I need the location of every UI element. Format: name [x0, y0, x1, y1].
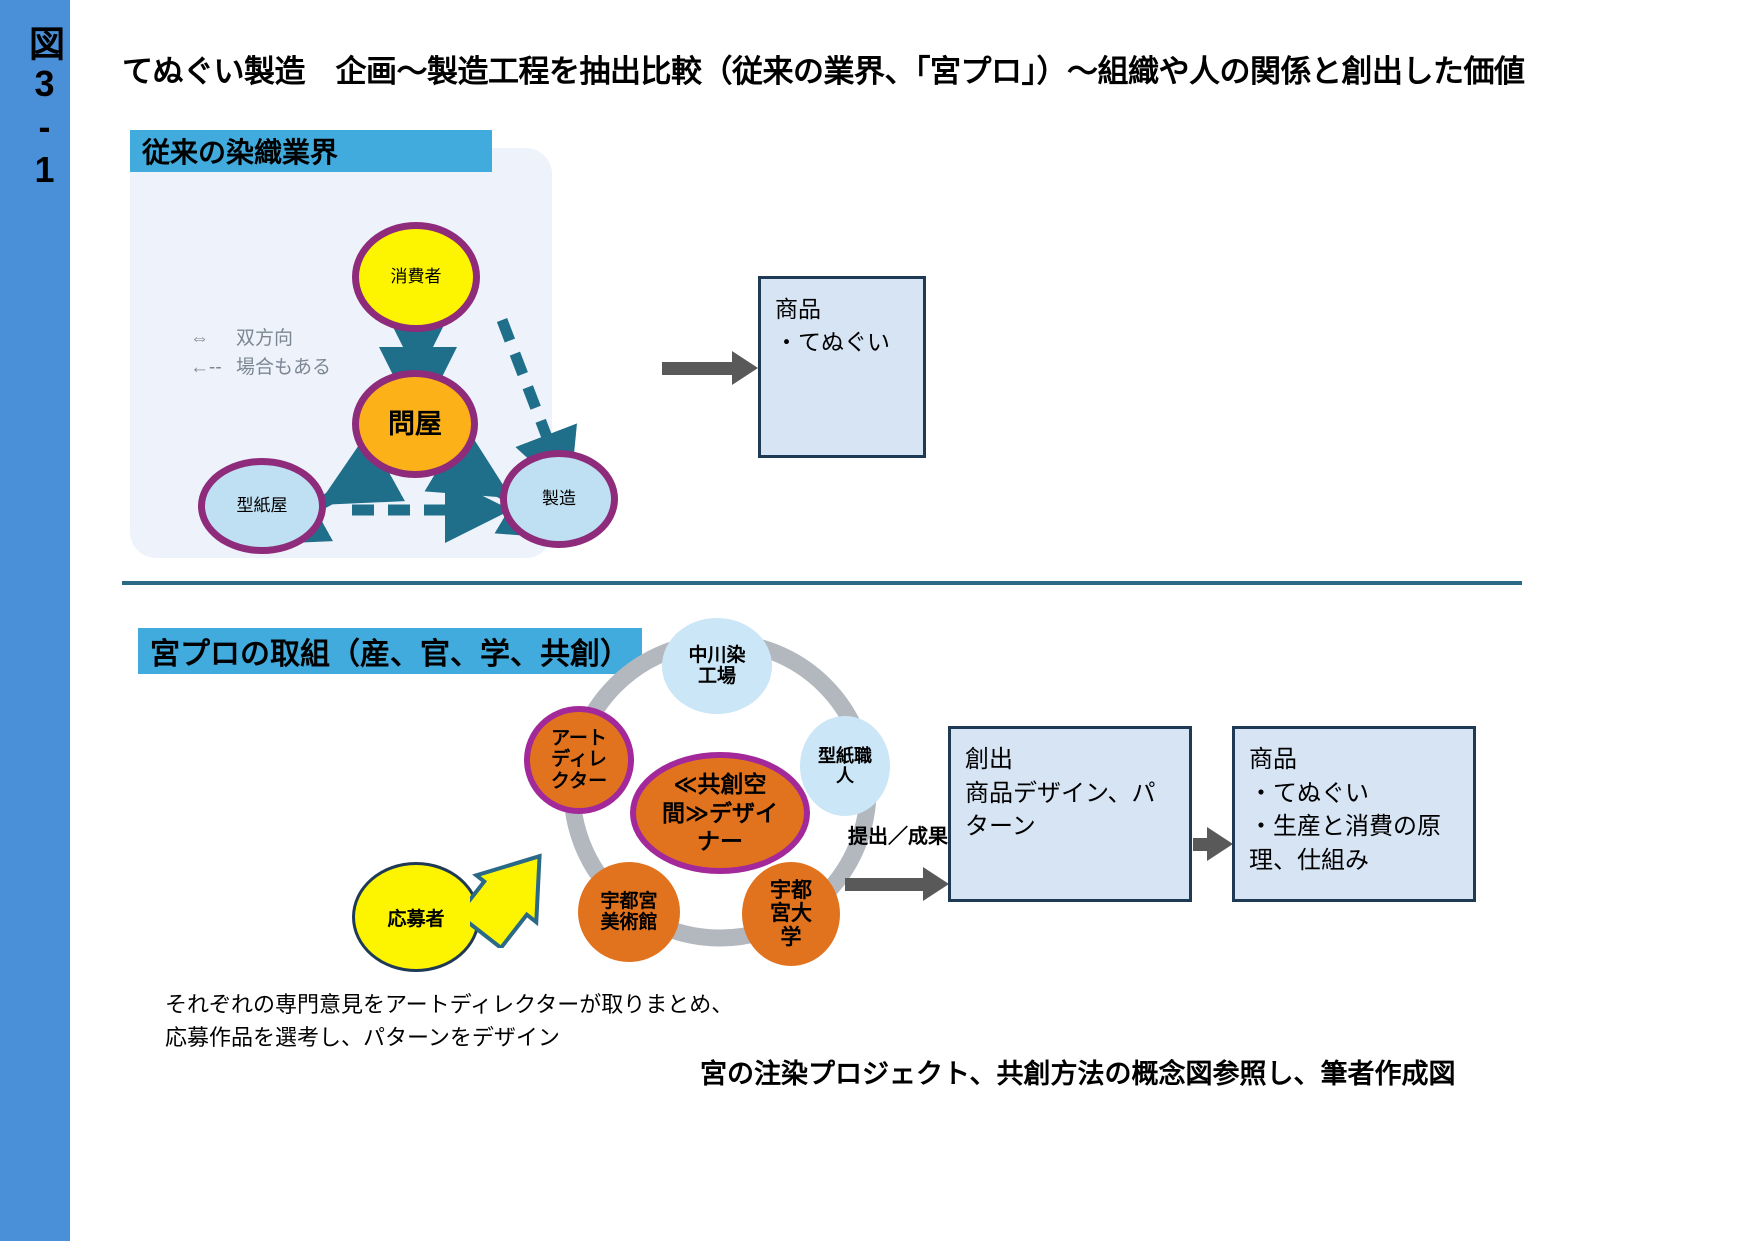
- ring-node-utsunomiya-university-label: 宇都 宮大 学: [770, 879, 812, 950]
- dashed-arrow-icon: ←--: [190, 353, 236, 382]
- node-manufacturing-label: 製造: [542, 489, 576, 508]
- node-pattern-shop: 型紙屋: [198, 458, 326, 554]
- ring-node-pattern-craftsman-label: 型紙職 人: [818, 746, 872, 786]
- product-box-miyapro-title: 商品: [1249, 743, 1459, 777]
- legend-item-bidirectional: ⇔ 双方向: [190, 324, 331, 353]
- creation-box-body: 商品デザイン、パターン: [965, 777, 1175, 844]
- node-applicant: 応募者: [352, 862, 480, 972]
- ring-node-pattern-craftsman: 型紙職 人: [800, 716, 890, 816]
- node-manufacturing: 製造: [500, 450, 618, 548]
- figure-number-label: 図3-1: [0, 18, 70, 198]
- node-applicant-label: 応募者: [387, 904, 444, 931]
- miyapro-note-line-2: 応募作品を選考し、パターンをデザイン: [165, 1021, 733, 1054]
- node-pattern-shop-label: 型紙屋: [237, 496, 288, 515]
- legend-label-sometimes: 場合もある: [236, 353, 331, 382]
- ring-node-nakagawa-dye-factory: 中川染 工場: [662, 618, 772, 714]
- product-box-traditional-item-0: ・てぬぐい: [775, 326, 909, 359]
- figure-credit: 宮の注染プロジェクト、共創方法の概念図参照し、筆者作成図: [700, 1052, 1455, 1091]
- ring-node-utsunomiya-university: 宇都 宮大 学: [742, 862, 840, 966]
- miyapro-note-line-1: それぞれの専門意見をアートディレクターが取りまとめ、: [165, 988, 733, 1021]
- node-wholesaler: 問屋: [352, 370, 478, 478]
- product-box-miyapro-item-0: ・てぬぐい: [1249, 777, 1459, 811]
- node-wholesaler-label: 問屋: [388, 409, 442, 439]
- product-box-miyapro: 商品 ・てぬぐい ・生産と消費の原理、仕組み: [1232, 726, 1476, 902]
- flow-label-submission: 提出／成果: [848, 820, 948, 849]
- product-box-miyapro-item-1: ・生産と消費の原理、仕組み: [1249, 810, 1459, 877]
- miyapro-note: それぞれの専門意見をアートディレクターが取りまとめ、 応募作品を選考し、パターン…: [165, 988, 733, 1054]
- ring-node-nakagawa-label: 中川染 工場: [688, 645, 745, 688]
- ring-node-utsunomiya-museum: 宇都宮 美術館: [578, 862, 680, 962]
- creation-box-title: 創出: [965, 743, 1175, 777]
- ring-node-art-director: アート ディレ クター: [524, 706, 634, 814]
- bidirectional-arrow-icon: ⇔: [190, 324, 236, 353]
- page-title: てぬぐい製造 企画～製造工程を抽出比較（従来の業界、「宮プロ」）～組織や人の関係…: [122, 46, 1722, 91]
- product-box-traditional: 商品 ・てぬぐい: [758, 276, 926, 458]
- legend-label-bidirectional: 双方向: [236, 324, 293, 353]
- ring-node-cocreation-space-designer: ≪共創空 間≫デザイ ナー: [630, 752, 810, 874]
- legend: ⇔ 双方向 ←-- 場合もある: [190, 324, 331, 383]
- ring-node-utsunomiya-museum-label: 宇都宮 美術館: [600, 891, 657, 934]
- legend-item-sometimes: ←-- 場合もある: [190, 353, 331, 382]
- ring-node-cocreation-space-designer-label: ≪共創空 間≫デザイ ナー: [662, 770, 778, 856]
- applicant-entry-arrow-icon: [470, 838, 570, 948]
- product-box-traditional-title: 商品: [775, 293, 909, 326]
- section-divider: [122, 581, 1522, 585]
- ring-node-art-director-label: アート ディレ クター: [551, 728, 607, 792]
- node-consumer-label: 消費者: [391, 267, 442, 286]
- creation-box: 創出 商品デザイン、パターン: [948, 726, 1192, 902]
- node-consumer: 消費者: [352, 222, 480, 332]
